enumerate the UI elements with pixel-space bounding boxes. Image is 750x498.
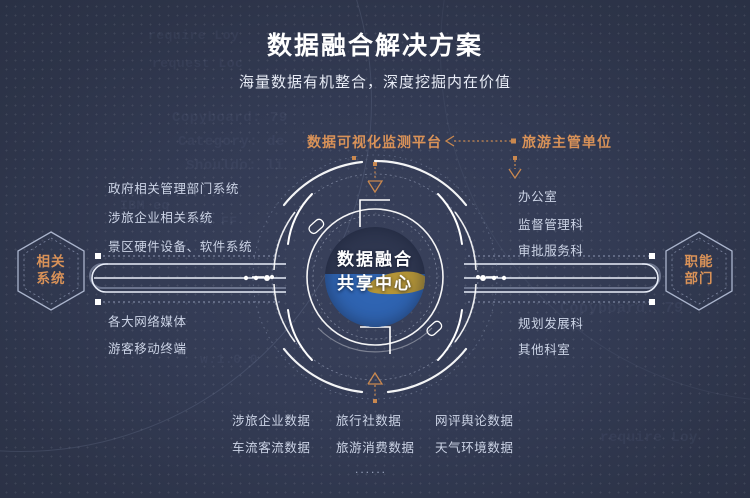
hex-right-line1: 职能 [685,254,714,271]
infographic-canvas: require Loy request Loc Copyboard: 79 Ca… [0,0,750,498]
label-visualization-platform: 数据可视化监测平台 [307,132,442,152]
core-label: 数据融合 共享中心 [250,248,500,296]
left-system-item-4: 游客移动终端 [108,338,187,357]
right-department-item-1: 监督管理科 [518,214,584,233]
hex-related-systems[interactable]: 相关 系统 [14,229,88,313]
left-system-item-1: 涉旅企业相关系统 [108,207,213,226]
label-tourism-authority: 旅游主管单位 [522,132,612,152]
hex-right-text: 职能 部门 [662,229,736,313]
bottom-data-item-1-0: 车流客流数据 [232,437,311,456]
left-system-item-0: 政府相关管理部门系统 [108,178,239,197]
bottom-data-item-1-1: 旅游消费数据 [336,437,415,456]
right-department-item-3: 规划发展科 [518,313,584,332]
core-label-line1: 数据融合 [250,248,500,272]
left-system-item-2: 景区硬件设备、软件系统 [108,236,252,255]
right-department-item-4: 其他科室 [518,339,570,358]
hex-left-line1: 相关 [37,254,66,271]
page-title: 数据融合解决方案 [0,26,750,62]
hex-left-line2: 系统 [37,271,66,288]
page-subtitle: 海量数据有机整合，深度挖掘内在价值 [0,71,750,92]
bottom-data-item-0-2: 网评舆论数据 [435,410,514,429]
arrow-authority-down [503,160,527,182]
right-department-item-2: 审批服务科 [518,240,584,259]
hex-right-line2: 部门 [685,271,714,288]
bottom-data-item-1-2: 天气环境数据 [435,437,514,456]
left-system-item-3: 各大网络媒体 [108,311,187,330]
bottom-data-item-0-1: 旅行社数据 [336,410,402,429]
hex-functional-departments[interactable]: 职能 部门 [662,229,736,313]
bottom-data-item-0-0: 涉旅企业数据 [232,410,311,429]
hex-left-text: 相关 系统 [14,229,88,313]
bottom-data-more: ...... [355,462,387,476]
right-department-item-0: 办公室 [518,186,557,205]
core-label-line2: 共享中心 [250,272,500,296]
arrow-authority-to-platform [440,132,520,152]
data-fusion-core[interactable]: 数据融合 共享中心 [250,152,500,402]
